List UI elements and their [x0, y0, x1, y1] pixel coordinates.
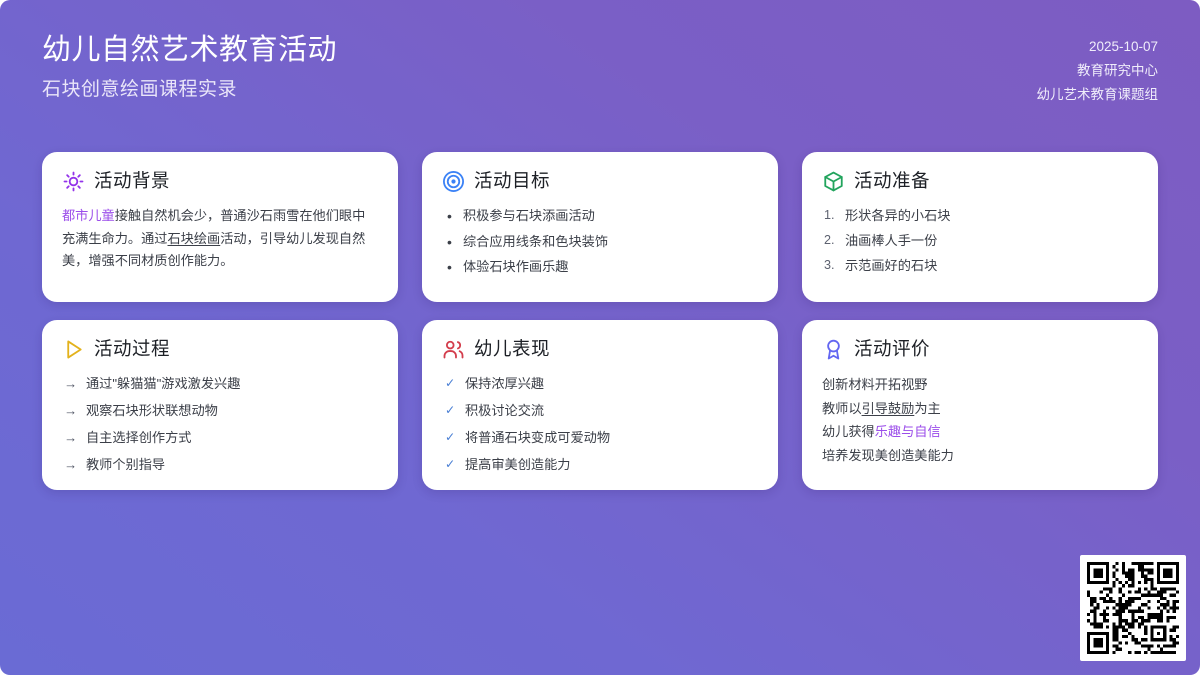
list-item: 将普通石块变成可爱动物: [442, 427, 758, 450]
list-item: 创新材料开拓视野: [822, 373, 1138, 397]
highlight-text: 都市儿童: [62, 208, 115, 223]
card-header: 活动准备: [822, 170, 1138, 193]
list-item: 观察石块形状联想动物: [62, 400, 378, 423]
card-goals: 活动目标积极参与石块添画活动综合应用线条和色块装饰体验石块作画乐趣: [422, 152, 778, 302]
underlined-text: 引导鼓励: [862, 401, 915, 416]
meta-date: 2025-10-07: [1089, 37, 1158, 58]
card-preparation: 活动准备形状各异的小石块油画棒人手一份示范画好的石块: [802, 152, 1158, 302]
people-icon: [442, 338, 465, 361]
card-title: 幼儿表现: [474, 340, 550, 359]
page-subtitle: 石块创意绘画课程实录: [42, 74, 337, 101]
slide-canvas: 幼儿自然艺术教育活动 石块创意绘画课程实录 2025-10-07 教育研究中心 …: [0, 0, 1200, 675]
card-header: 活动评价: [822, 338, 1138, 361]
card-list: 保持浓厚兴趣积极讨论交流将普通石块变成可爱动物提高审美创造能力: [442, 373, 758, 481]
card-paragraph: 都市儿童接触自然机会少，普通沙石雨雪在他们眼中充满生命力。通过石块绘画活动，引导…: [62, 205, 378, 273]
play-icon: [62, 338, 85, 361]
list-item: 提高审美创造能力: [442, 454, 758, 477]
body-text: 培养发现美创造美能力: [822, 448, 954, 463]
list-item: 教师以引导鼓励为主: [822, 397, 1138, 421]
target-icon: [442, 170, 465, 193]
card-lines: 创新材料开拓视野教师以引导鼓励为主幼儿获得乐趣与自信培养发现美创造美能力: [822, 373, 1138, 467]
list-item: 保持浓厚兴趣: [442, 373, 758, 396]
list-item: 积极参与石块添画活动: [442, 205, 758, 228]
card-grid: 活动背景都市儿童接触自然机会少，普通沙石雨雪在他们眼中充满生命力。通过石块绘画活…: [42, 152, 1158, 490]
title-block: 幼儿自然艺术教育活动 石块创意绘画课程实录: [42, 34, 337, 101]
list-item: 油画棒人手一份: [822, 230, 1138, 253]
card-list: 形状各异的小石块油画棒人手一份示范画好的石块: [822, 205, 1138, 280]
list-item: 幼儿获得乐趣与自信: [822, 420, 1138, 444]
qr-code[interactable]: [1080, 555, 1186, 661]
card-title: 活动背景: [94, 172, 170, 191]
body-text: 为主: [914, 401, 940, 416]
card-header: 活动目标: [442, 170, 758, 193]
sun-icon: [62, 170, 85, 193]
list-item: 培养发现美创造美能力: [822, 444, 1138, 468]
page-title: 幼儿自然艺术教育活动: [42, 34, 337, 67]
card-header: 活动过程: [62, 338, 378, 361]
header-meta: 2025-10-07 教育研究中心 幼儿艺术教育课题组: [1037, 34, 1159, 106]
meta-group: 幼儿艺术教育课题组: [1037, 85, 1159, 106]
card-list: 积极参与石块添画活动综合应用线条和色块装饰体验石块作画乐趣: [442, 205, 758, 282]
card-title: 活动过程: [94, 340, 170, 359]
meta-organization: 教育研究中心: [1077, 61, 1158, 82]
award-icon: [822, 338, 845, 361]
body-text: 创新材料开拓视野: [822, 377, 928, 392]
list-item: 形状各异的小石块: [822, 205, 1138, 228]
slide-header: 幼儿自然艺术教育活动 石块创意绘画课程实录 2025-10-07 教育研究中心 …: [42, 34, 1158, 106]
card-performance: 幼儿表现保持浓厚兴趣积极讨论交流将普通石块变成可爱动物提高审美创造能力: [422, 320, 778, 490]
list-item: 通过"躲猫猫"游戏激发兴趣: [62, 373, 378, 396]
card-header: 活动背景: [62, 170, 378, 193]
card-title: 活动目标: [474, 172, 550, 191]
qr-code-image: [1087, 562, 1179, 654]
list-item: 综合应用线条和色块装饰: [442, 231, 758, 254]
body-text: 幼儿获得: [822, 424, 875, 439]
list-item: 教师个别指导: [62, 454, 378, 477]
list-item: 积极讨论交流: [442, 400, 758, 423]
card-header: 幼儿表现: [442, 338, 758, 361]
list-item: 体验石块作画乐趣: [442, 256, 758, 279]
card-title: 活动评价: [854, 340, 930, 359]
highlight-text: 乐趣与自信: [875, 424, 941, 439]
underlined-text: 石块绘画: [168, 231, 221, 246]
body-text: 教师以: [822, 401, 862, 416]
card-list: 通过"躲猫猫"游戏激发兴趣观察石块形状联想动物自主选择创作方式教师个别指导: [62, 373, 378, 481]
card-background: 活动背景都市儿童接触自然机会少，普通沙石雨雪在他们眼中充满生命力。通过石块绘画活…: [42, 152, 398, 302]
card-evaluation: 活动评价创新材料开拓视野教师以引导鼓励为主幼儿获得乐趣与自信培养发现美创造美能力: [802, 320, 1158, 490]
box-icon: [822, 170, 845, 193]
card-title: 活动准备: [854, 172, 930, 191]
list-item: 示范画好的石块: [822, 255, 1138, 278]
card-process: 活动过程通过"躲猫猫"游戏激发兴趣观察石块形状联想动物自主选择创作方式教师个别指…: [42, 320, 398, 490]
list-item: 自主选择创作方式: [62, 427, 378, 450]
